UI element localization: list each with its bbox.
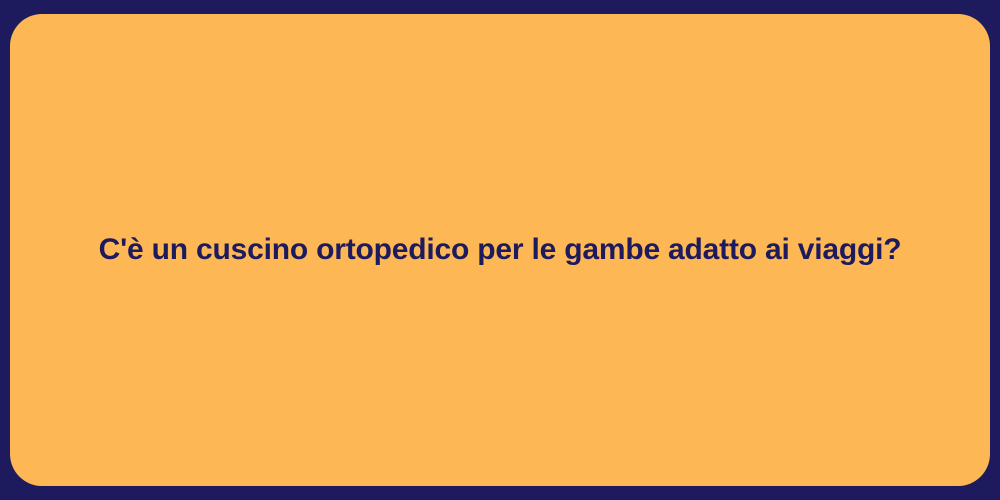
outer-frame: C'è un cuscino ortopedico per le gambe a…: [0, 0, 1000, 500]
headline-text: C'è un cuscino ortopedico per le gambe a…: [99, 231, 902, 269]
content-card: C'è un cuscino ortopedico per le gambe a…: [10, 14, 990, 486]
